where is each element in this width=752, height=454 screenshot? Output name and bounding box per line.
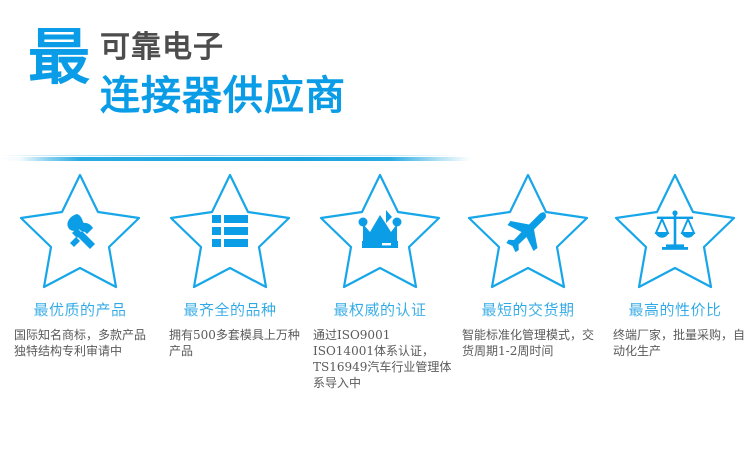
- trophy-icon: [5, 168, 155, 294]
- feature-description: 拥有500多套模具上万种产品: [155, 327, 305, 359]
- star-badge-delivery: [453, 168, 603, 294]
- promo-banner: 最 最 可靠电子 连接器供应商: [0, 0, 752, 454]
- feature-description: 通过ISO9001 ISO14001体系认证，TS16949汽车行业管理体系导入…: [305, 327, 455, 391]
- feature-description: 终端厂家，批量采购，自动化生产: [600, 327, 750, 359]
- feature-title: 最齐全的品种: [155, 300, 305, 322]
- feature-item-quality: 最优质的产品 国际知名商标，多款产品独特结构专利审请中: [5, 168, 155, 398]
- feature-item-delivery: 最短的交货期 智能标准化管理模式，交货周期1-2周时间: [453, 168, 603, 398]
- feature-description: 国际知名商标，多款产品独特结构专利审请中: [5, 327, 155, 359]
- crown-icon: [305, 168, 455, 294]
- feature-title: 最优质的产品: [5, 300, 155, 322]
- star-badge-value: [600, 168, 750, 294]
- star-badge-quality: [5, 168, 155, 294]
- feature-item-variety: 最齐全的品种 拥有500多套模具上万种产品: [155, 168, 305, 398]
- headline-line-1: 可靠电子: [100, 28, 224, 68]
- feature-list: 最优质的产品 国际知名商标，多款产品独特结构专利审请中: [0, 168, 752, 398]
- headline-big-char-top: 最: [28, 28, 98, 72]
- headline-block: 最 最 可靠电子 连接器供应商: [28, 26, 458, 124]
- divider-thin-line: [0, 155, 470, 156]
- headline-big-char-bottom: 最: [28, 72, 98, 120]
- balance-scale-icon: [600, 168, 750, 294]
- divider-thick-line: [0, 157, 470, 161]
- list-grid-icon: [155, 168, 305, 294]
- headline-line-2: 连接器供应商: [100, 72, 346, 120]
- feature-description: 智能标准化管理模式，交货周期1-2周时间: [453, 327, 603, 359]
- airplane-icon: [453, 168, 603, 294]
- headline-big-char-bottom-text: 最: [28, 72, 89, 85]
- feature-title: 最权威的认证: [305, 300, 455, 322]
- feature-title: 最短的交货期: [453, 300, 603, 322]
- header-divider: [0, 155, 752, 162]
- headline-big-char-top-text: 最: [28, 28, 89, 72]
- star-badge-certification: [305, 168, 455, 294]
- feature-title: 最高的性价比: [600, 300, 750, 322]
- feature-item-certification: 最权威的认证 通过ISO9001 ISO14001体系认证，TS16949汽车行…: [305, 168, 455, 398]
- star-badge-variety: [155, 168, 305, 294]
- feature-item-value: 最高的性价比 终端厂家，批量采购，自动化生产: [600, 168, 750, 398]
- banner-header: 最 最 可靠电子 连接器供应商: [0, 26, 752, 136]
